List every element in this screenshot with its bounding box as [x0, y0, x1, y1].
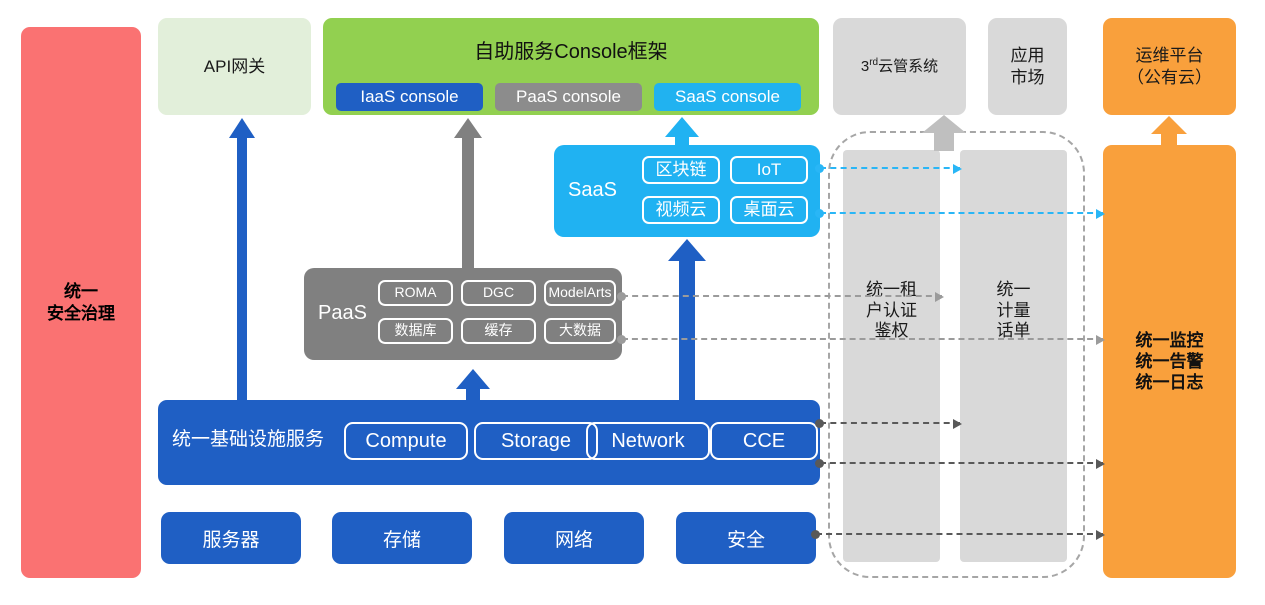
- hardware-box-storage[interactable]: 存储: [332, 512, 472, 564]
- arrow-shaft: [675, 135, 689, 147]
- dashed-saas-to-ops: [820, 212, 1103, 214]
- app-market-box[interactable]: 应用 市场: [988, 18, 1067, 115]
- infra-chip-compute[interactable]: Compute: [344, 422, 468, 460]
- arrowhead: [935, 292, 944, 302]
- arrowhead: [668, 239, 706, 261]
- unified-infrastructure-label: 统一基础设施服务: [172, 428, 324, 452]
- saas-block[interactable]: SaaS 区块链 IoT 视频云 桌面云: [554, 145, 820, 237]
- connector-dot: [815, 419, 824, 428]
- arrow-auth-to-third-cloud: [922, 115, 966, 151]
- ops-platform-box[interactable]: 运维平台 （公有云）: [1103, 18, 1236, 115]
- arrow-infra-to-saas: [668, 239, 706, 401]
- infra-chip-storage[interactable]: Storage: [474, 422, 598, 460]
- paas-chip-dgc[interactable]: DGC: [461, 280, 536, 306]
- self-service-console-frame[interactable]: 自助服务Console框架 IaaS console PaaS console …: [323, 18, 819, 115]
- infra-chip-network[interactable]: Network: [586, 422, 710, 460]
- connector-dot: [811, 530, 820, 539]
- arrow-paas-to-console: [454, 118, 482, 270]
- arrow-shaft: [462, 136, 474, 270]
- connector-dot: [617, 292, 626, 301]
- dashed-saas-to-metering: [820, 167, 960, 169]
- arrow-shaft: [1161, 132, 1177, 146]
- api-gateway-box[interactable]: API网关: [158, 18, 311, 115]
- hardware-box-server[interactable]: 服务器: [161, 512, 301, 564]
- app-market-label: 应用 市场: [1011, 45, 1045, 88]
- arrow-shaft: [934, 131, 954, 151]
- arrow-shaft: [466, 387, 480, 401]
- third-party-cloud-management-label: 3rd云管系统: [861, 57, 938, 77]
- dashed-security-to-ops: [816, 533, 1103, 535]
- arrowhead: [953, 164, 962, 174]
- arrow-shaft: [237, 136, 247, 401]
- arrowhead: [1096, 530, 1105, 540]
- saas-chip-blockchain[interactable]: 区块链: [642, 156, 720, 184]
- arrowhead: [1096, 209, 1105, 219]
- hardware-box-network[interactable]: 网络: [504, 512, 644, 564]
- paas-chip-modelarts[interactable]: ModelArts: [544, 280, 616, 306]
- arrowhead: [953, 419, 962, 429]
- ops-monitoring-label: 统一监控 统一告警 统一日志: [1136, 330, 1204, 394]
- paas-chip-roma[interactable]: ROMA: [378, 280, 453, 306]
- arrowhead: [456, 369, 490, 389]
- arrowhead: [1096, 459, 1105, 469]
- unified-metering-label: 统一 计量 话单: [960, 280, 1067, 342]
- arrow-shaft: [679, 259, 695, 401]
- paas-console-chip[interactable]: PaaS console: [495, 83, 642, 111]
- connector-dot: [815, 459, 824, 468]
- ops-monitoring-pillar[interactable]: 统一监控 统一告警 统一日志: [1103, 145, 1236, 578]
- ops-platform-label: 运维平台 （公有云）: [1127, 45, 1212, 88]
- console-frame-title: 自助服务Console框架: [323, 40, 819, 65]
- connector-dot: [617, 335, 626, 344]
- paas-chip-bigdata[interactable]: 大数据: [544, 318, 616, 344]
- api-gateway-label: API网关: [204, 56, 265, 77]
- paas-chip-database[interactable]: 数据库: [378, 318, 453, 344]
- infra-chip-cce[interactable]: CCE: [710, 422, 818, 460]
- dashed-infra-to-metering: [820, 422, 960, 424]
- hardware-box-security[interactable]: 安全: [676, 512, 816, 564]
- saas-label: SaaS: [568, 178, 617, 203]
- paas-label: PaaS: [318, 301, 367, 326]
- dashed-paas-to-auth: [622, 295, 942, 297]
- arrow-infra-to-paas: [456, 369, 490, 401]
- connector-dot: [815, 209, 824, 218]
- saas-chip-desktop-cloud[interactable]: 桌面云: [730, 196, 808, 224]
- architecture-diagram: 统一 安全治理 API网关 自助服务Console框架 IaaS console…: [0, 0, 1265, 605]
- saas-console-chip[interactable]: SaaS console: [654, 83, 801, 111]
- paas-chip-cache[interactable]: 缓存: [461, 318, 536, 344]
- dashed-infra-to-ops: [820, 462, 1103, 464]
- iaas-console-chip[interactable]: IaaS console: [336, 83, 483, 111]
- connector-dot: [815, 164, 824, 173]
- arrow-saas-to-console: [665, 117, 699, 147]
- arrow-infra-to-api-gateway: [229, 118, 255, 401]
- arrowhead: [665, 117, 699, 137]
- paas-block[interactable]: PaaS ROMA DGC ModelArts 数据库 缓存 大数据: [304, 268, 622, 360]
- unified-infrastructure-bar[interactable]: 统一基础设施服务 Compute Storage Network CCE: [158, 400, 820, 485]
- dashed-paas-to-ops: [622, 338, 1103, 340]
- unified-tenant-auth-label: 统一租 户认证 鉴权: [843, 280, 940, 342]
- security-governance-label: 统一 安全治理: [47, 281, 115, 324]
- saas-chip-iot[interactable]: IoT: [730, 156, 808, 184]
- saas-chip-video-cloud[interactable]: 视频云: [642, 196, 720, 224]
- security-governance-pillar[interactable]: 统一 安全治理: [21, 27, 141, 578]
- arrow-ops-pillar-to-ops-platform: [1151, 116, 1187, 146]
- arrowhead: [229, 118, 255, 138]
- ordinal-superscript: rd: [869, 57, 878, 68]
- arrowhead: [1096, 335, 1105, 345]
- third-party-cloud-management-box[interactable]: 3rd云管系统: [833, 18, 966, 115]
- arrowhead: [454, 118, 482, 138]
